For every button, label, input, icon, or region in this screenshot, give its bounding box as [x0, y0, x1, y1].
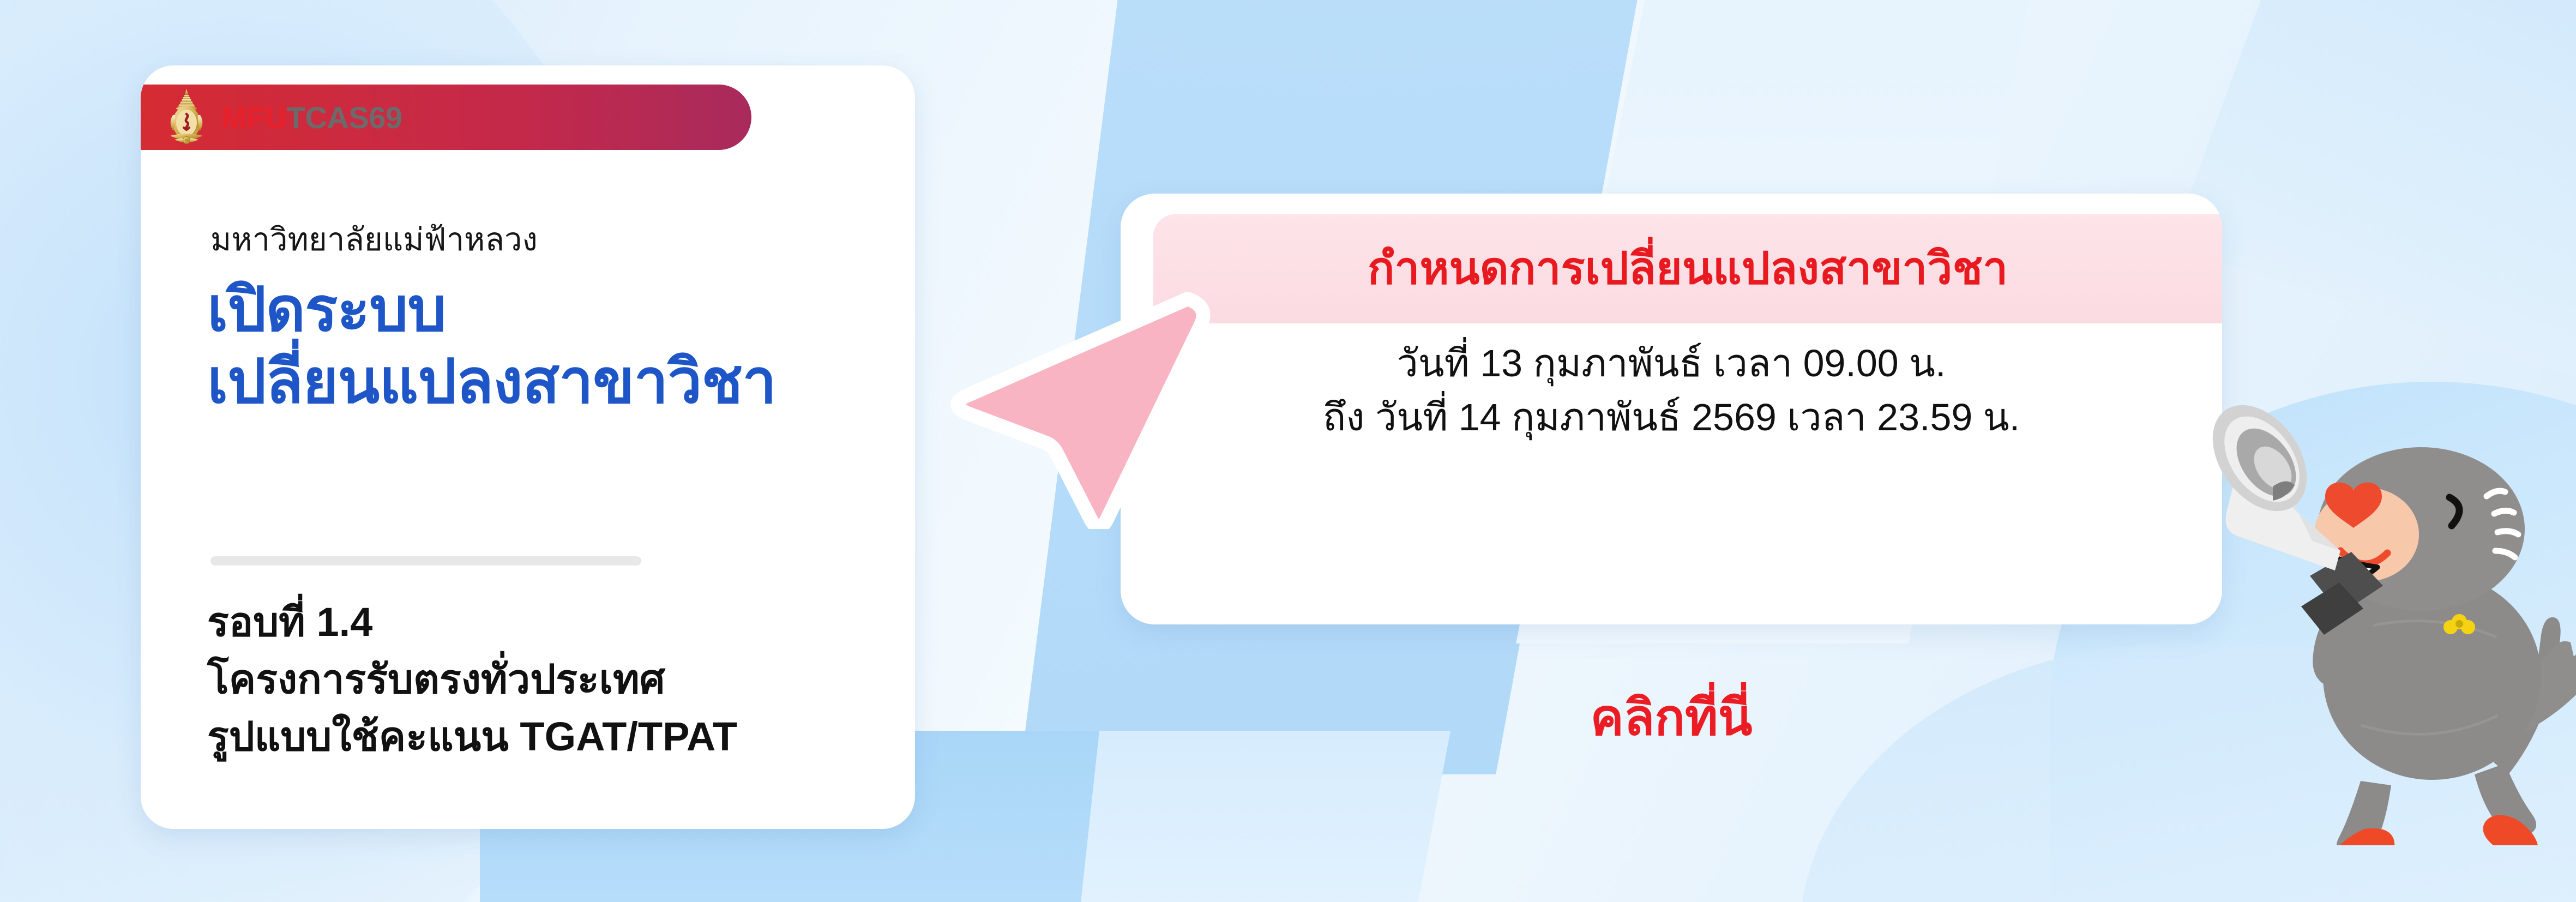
announcement-card-left: MFUTCAS69 มหาวิทยาลัยแม่ฟ้าหลวง เปิดระบบ…: [141, 65, 915, 829]
brand-row: MFUTCAS69: [161, 85, 402, 151]
mole-mascot-with-megaphone-icon: [2203, 294, 2576, 845]
schedule-date-line-1: วันที่ 13 กุมภาพันธ์ เวลา 09.00 น.: [1121, 336, 2222, 390]
round-detail-line-1: รอบที่ 1.4: [207, 593, 905, 651]
headline: เปิดระบบ เปลี่ยนแปลงสาขาวิชา: [207, 274, 905, 418]
headline-line-2: เปลี่ยนแปลงสาขาวิชา: [207, 346, 905, 418]
schedule-banner: กำหนดการเปลี่ยนแปลงสาขาวิชา: [1153, 214, 2222, 323]
round-detail-line-2: โครงการรับตรงทั่วประเทศ: [207, 651, 905, 708]
round-details: รอบที่ 1.4 โครงการรับตรงทั่วประเทศ รูปแบ…: [207, 593, 905, 765]
click-here-cta[interactable]: คลิกที่นี่: [1121, 693, 2222, 743]
mfu-university-emblem-icon: [161, 88, 212, 148]
schedule-card-right: กำหนดการเปลี่ยนแปลงสาขาวิชา วันที่ 13 กุ…: [1121, 194, 2222, 624]
background-diagonal-shape-4: [1069, 731, 1450, 902]
schedule-banner-title: กำหนดการเปลี่ยนแปลงสาขาวิชา: [1368, 246, 2008, 291]
schedule-dates: วันที่ 13 กุมภาพันธ์ เวลา 09.00 น. ถึง ว…: [1121, 336, 2222, 445]
brand-wordmark-secondary: TCAS69: [287, 100, 402, 135]
divider: [210, 556, 641, 566]
round-detail-line-3: รูปแบบใช้คะแนน TGAT/TPAT: [207, 708, 905, 765]
university-name: มหาวิทยาลัยแม่ฟ้าหลวง: [210, 223, 865, 257]
headline-line-1: เปิดระบบ: [207, 274, 905, 346]
brand-wordmark: MFUTCAS69: [221, 103, 402, 133]
pink-cursor-arrow-icon: [927, 273, 1211, 529]
brand-wordmark-primary: MFU: [221, 100, 287, 135]
schedule-date-line-2: ถึง วันที่ 14 กุมภาพันธ์ 2569 เวลา 23.59…: [1121, 390, 2222, 444]
